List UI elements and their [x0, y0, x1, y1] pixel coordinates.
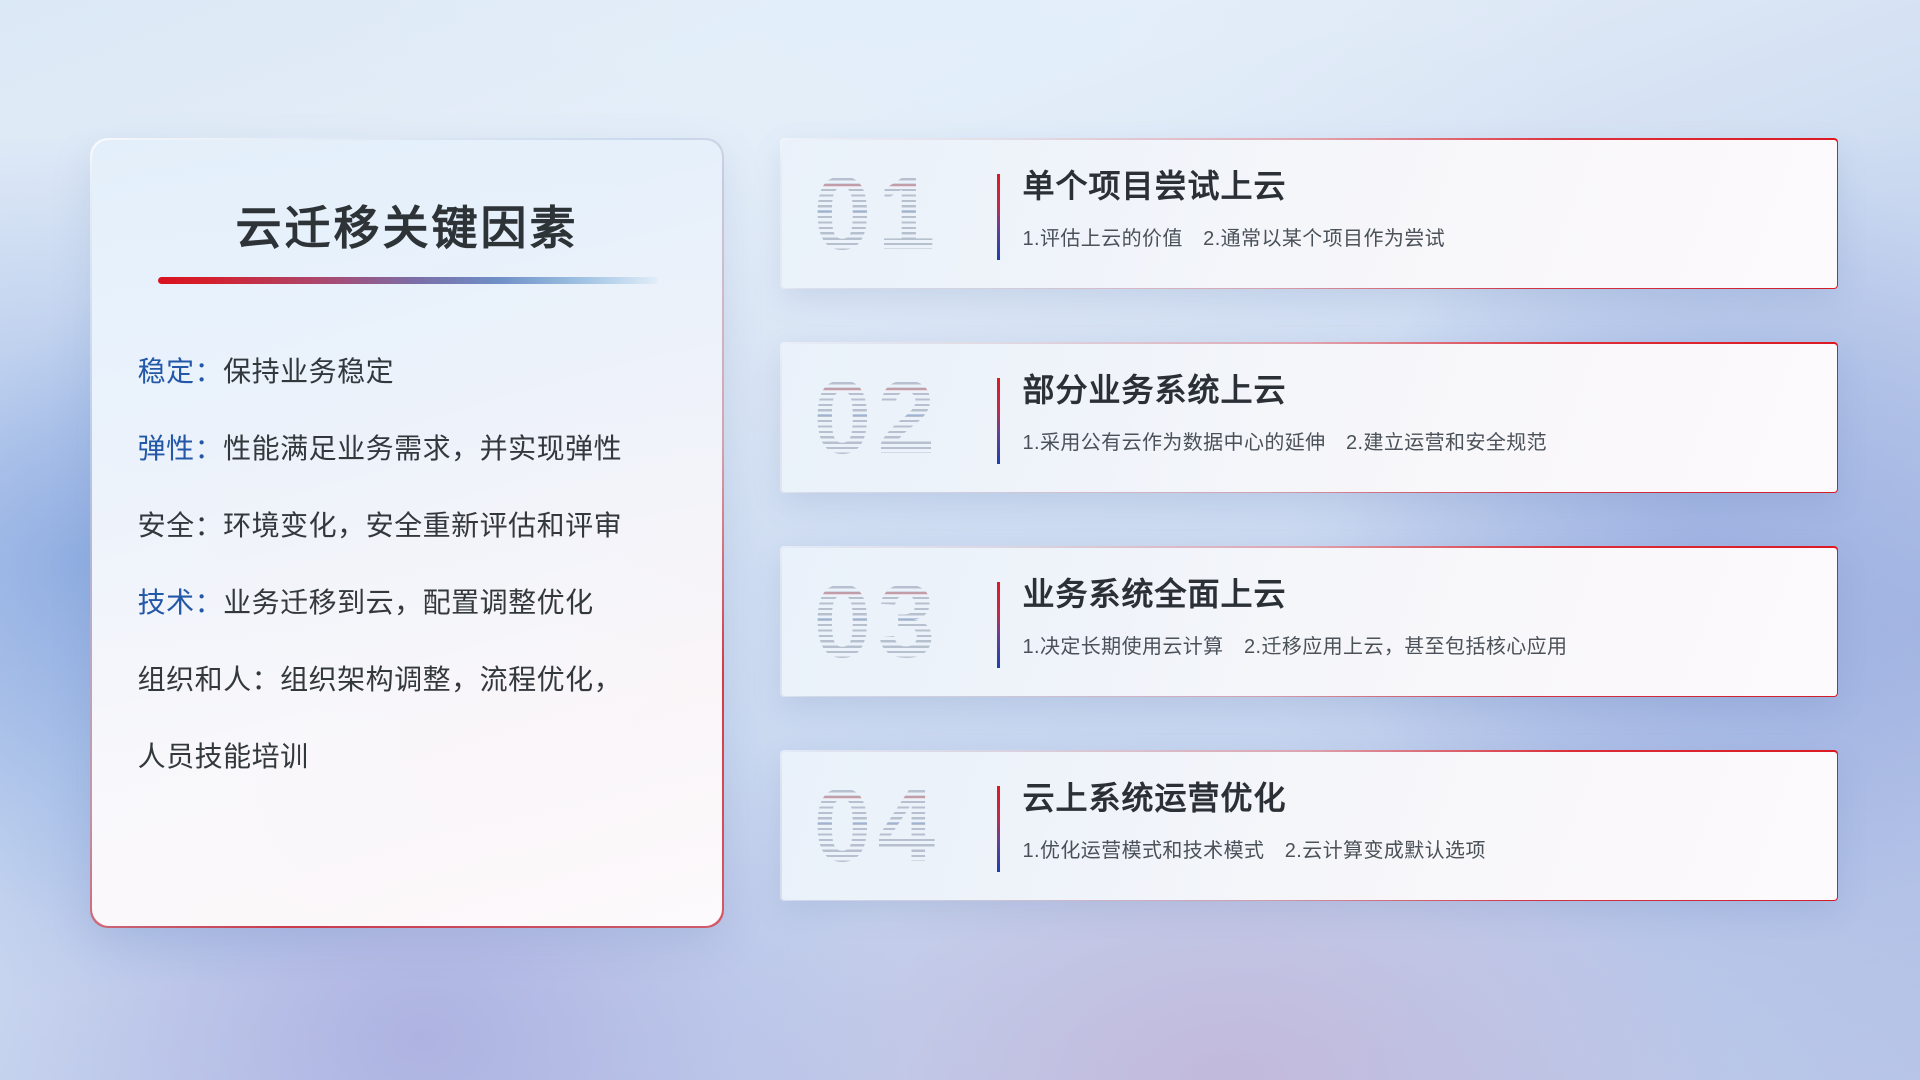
key-factors-panel: 云迁移关键因素 稳定：保持业务稳定 弹性：性能满足业务需求，并实现弹性 安全：环…: [90, 138, 724, 928]
stage-card-01[interactable]: 01 01 单个项目尝试上云 1.评估上云的价值 2.通常以某个项目作为尝试: [780, 138, 1838, 289]
factor-label-stability: 稳定：: [138, 356, 224, 387]
factor-label-organization: 组织和人：: [138, 664, 281, 695]
stage-card-01-subtitle: 1.评估上云的价值 2.通常以某个项目作为尝试: [1023, 222, 1813, 251]
stage-card-04-title: 云上系统运营优化: [1023, 780, 1813, 817]
stage-card-01-body: 单个项目尝试上云 1.评估上云的价值 2.通常以某个项目作为尝试: [1023, 168, 1813, 252]
stage-card-04[interactable]: 04 04 云上系统运营优化 1.优化运营模式和技术模式 2.云计算变成默认选项: [780, 750, 1838, 901]
stage-number-watermark-04: 04: [814, 774, 942, 878]
stage-card-list: 01 01 单个项目尝试上云 1.评估上云的价值 2.通常以某个项目作为尝试 0…: [780, 138, 1838, 901]
factor-row-organization: 组织和人：组织架构调整，流程优化，: [138, 666, 693, 694]
accent-bar-04: [997, 786, 1000, 872]
factor-label-elasticity: 弹性：: [138, 433, 224, 464]
stage-card-03[interactable]: 03 03 业务系统全面上云 1.决定长期使用云计算 2.迁移应用上云，甚至包括…: [780, 546, 1838, 697]
stage-card-03-inner: 03 03 业务系统全面上云 1.决定长期使用云计算 2.迁移应用上云，甚至包括…: [782, 548, 1837, 696]
stage-card-02-subtitle: 1.采用公有云作为数据中心的延伸 2.建立运营和安全规范: [1023, 426, 1813, 455]
stage-card-01-title: 单个项目尝试上云: [1023, 168, 1813, 205]
factor-label-technology: 技术：: [138, 587, 224, 618]
factor-text-organization: 组织架构调整，流程优化，: [280, 664, 622, 695]
factor-text-elasticity: 性能满足业务需求，并实现弹性: [223, 433, 622, 464]
stage-card-04-inner: 04 04 云上系统运营优化 1.优化运营模式和技术模式 2.云计算变成默认选项: [782, 752, 1837, 900]
accent-bar-01: [997, 174, 1000, 260]
stage-card-03-body: 业务系统全面上云 1.决定长期使用云计算 2.迁移应用上云，甚至包括核心应用: [1023, 576, 1813, 660]
factor-row-security: 安全：环境变化，安全重新评估和评审: [138, 512, 693, 540]
factor-text-security: 环境变化，安全重新评估和评审: [223, 510, 622, 541]
stage-number-watermark-01: 01: [814, 162, 942, 266]
title-underline-gradient: [158, 277, 658, 284]
factor-text-organization-continued: 人员技能培训: [138, 741, 309, 772]
factor-row-technology: 技术：业务迁移到云，配置调整优化: [138, 589, 693, 617]
factor-row-stability: 稳定：保持业务稳定: [138, 358, 693, 386]
stage-card-02-title: 部分业务系统上云: [1023, 372, 1813, 409]
stage-card-02-body: 部分业务系统上云 1.采用公有云作为数据中心的延伸 2.建立运营和安全规范: [1023, 372, 1813, 456]
stage-card-02-inner: 02 02 部分业务系统上云 1.采用公有云作为数据中心的延伸 2.建立运营和安…: [782, 344, 1837, 492]
factor-row-organization-continued: 人员技能培训: [138, 743, 693, 771]
stage-card-04-body: 云上系统运营优化 1.优化运营模式和技术模式 2.云计算变成默认选项: [1023, 780, 1813, 864]
accent-bar-03: [997, 582, 1000, 668]
slide-canvas: 云迁移关键因素 稳定：保持业务稳定 弹性：性能满足业务需求，并实现弹性 安全：环…: [0, 0, 1920, 1080]
factor-label-security: 安全：: [138, 510, 224, 541]
page-title: 云迁移关键因素: [92, 192, 723, 258]
stage-number-watermark-03: 03: [814, 570, 942, 674]
stage-card-03-subtitle: 1.决定长期使用云计算 2.迁移应用上云，甚至包括核心应用: [1023, 630, 1813, 659]
stage-card-02[interactable]: 02 02 部分业务系统上云 1.采用公有云作为数据中心的延伸 2.建立运营和安…: [780, 342, 1838, 493]
key-factors-panel-inner: 云迁移关键因素 稳定：保持业务稳定 弹性：性能满足业务需求，并实现弹性 安全：环…: [92, 140, 723, 927]
stage-number-watermark-02: 02: [814, 366, 942, 470]
stage-card-01-inner: 01 01 单个项目尝试上云 1.评估上云的价值 2.通常以某个项目作为尝试: [782, 140, 1837, 288]
factor-text-technology: 业务迁移到云，配置调整优化: [223, 587, 594, 618]
factor-row-elasticity: 弹性：性能满足业务需求，并实现弹性: [138, 435, 693, 463]
factor-text-stability: 保持业务稳定: [223, 356, 394, 387]
stage-card-04-subtitle: 1.优化运营模式和技术模式 2.云计算变成默认选项: [1023, 834, 1813, 863]
factor-list: 稳定：保持业务稳定 弹性：性能满足业务需求，并实现弹性 安全：环境变化，安全重新…: [138, 358, 693, 771]
stage-card-03-title: 业务系统全面上云: [1023, 576, 1813, 613]
accent-bar-02: [997, 378, 1000, 464]
